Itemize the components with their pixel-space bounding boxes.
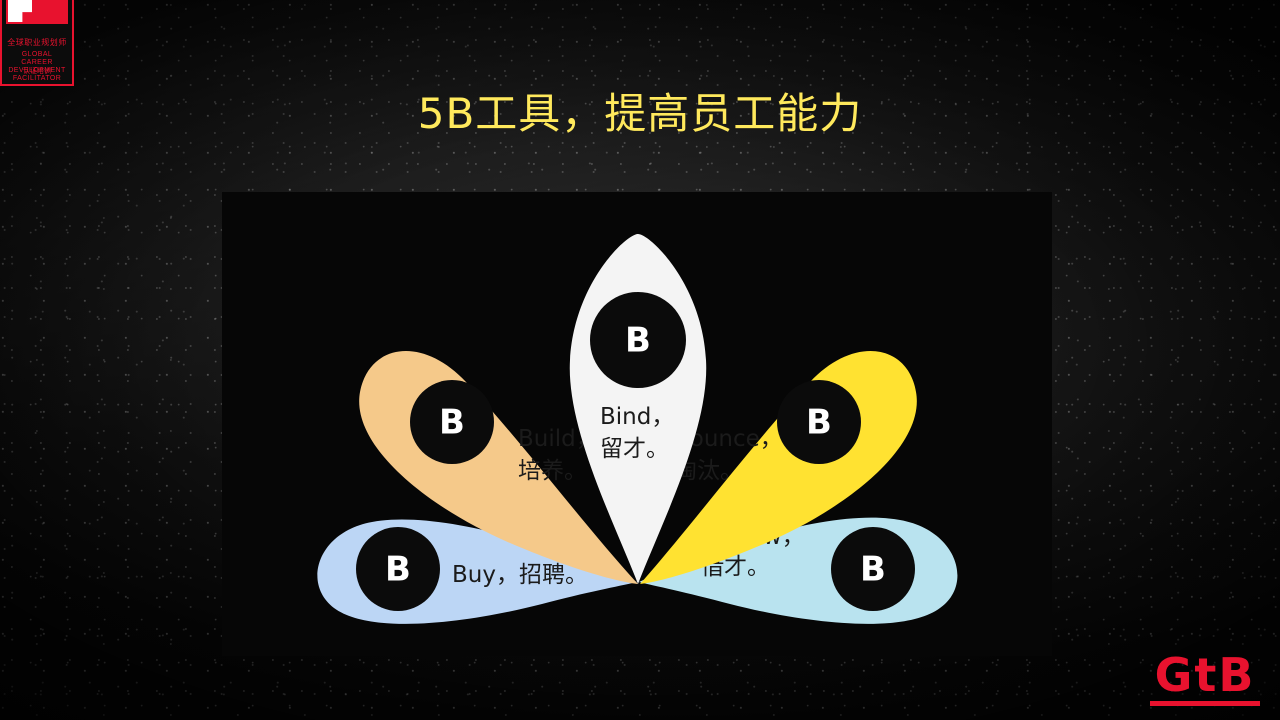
petal-bind-letter: B bbox=[625, 321, 651, 361]
petal-build-subtitle: 培养。 bbox=[518, 458, 587, 484]
corner-logo-underline bbox=[1150, 701, 1260, 706]
top-left-logo: 全球职业规划师 GLOBAL CAREER DEVELOPMENT FACILI… bbox=[0, 0, 74, 86]
petal-buy-title: Buy，招聘。 bbox=[452, 562, 588, 588]
petal-bounce-letter: B bbox=[806, 403, 832, 443]
petal-buy-letter: B bbox=[385, 550, 411, 590]
petal-borrow-letter: B bbox=[860, 550, 886, 590]
petal-fan-diagram: B Buy，招聘。 B Borrow， 借才。 B Build， 培养。 bbox=[222, 192, 1052, 656]
logo-cn-line: 全球职业规划师 bbox=[7, 38, 67, 47]
petal-bind-title: Bind， bbox=[600, 404, 674, 430]
logo-cn-line-2: 认证培训 bbox=[7, 68, 67, 76]
petal-bind-subtitle: 留才。 bbox=[600, 436, 669, 462]
bottom-right-logo: GtB bbox=[1144, 650, 1266, 708]
logo-en-line: GLOBAL CAREER DEVELOPMENT FACILITATOR bbox=[7, 51, 67, 83]
slide-canvas: 全球职业规划师 GLOBAL CAREER DEVELOPMENT FACILI… bbox=[0, 0, 1280, 720]
petal-build-letter: B bbox=[439, 403, 465, 443]
diagram-panel: B Buy，招聘。 B Borrow， 借才。 B Build， 培养。 bbox=[222, 192, 1052, 656]
corner-logo-text: GtB bbox=[1144, 650, 1266, 708]
page-title: 5B工具，提高员工能力 bbox=[0, 88, 1280, 140]
